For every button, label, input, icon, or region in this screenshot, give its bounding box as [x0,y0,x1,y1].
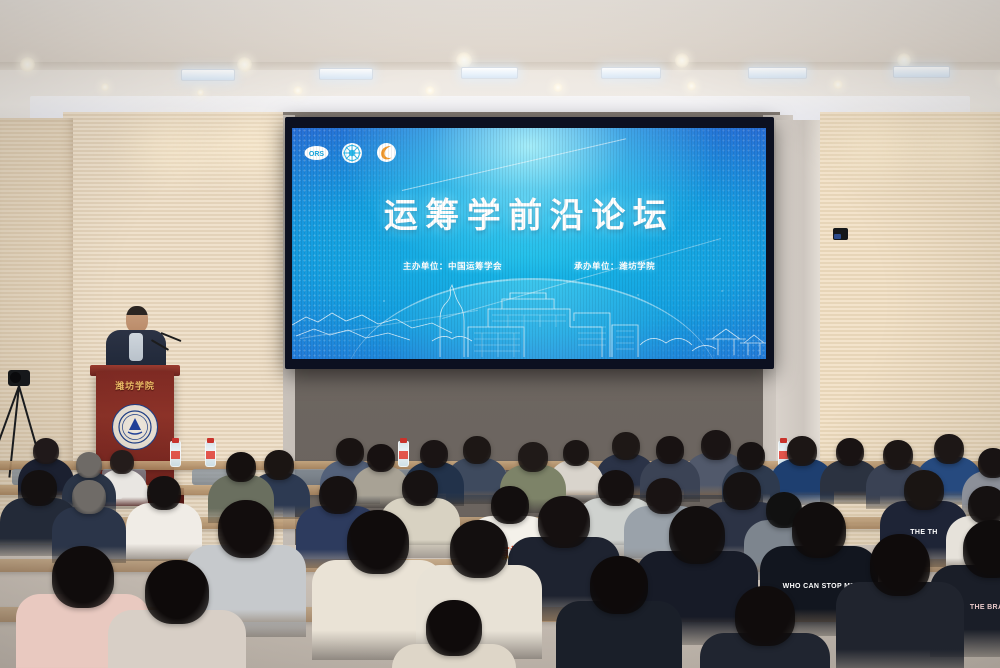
audience-person-head [590,556,648,614]
audience-person-head [978,448,1000,478]
audience-person-head [787,436,817,466]
audience-person-head [735,586,795,646]
bottle-label [171,451,180,459]
university-emblem-icon [112,404,158,450]
audience-person-head [612,432,640,460]
audience-person-head [420,440,448,468]
ceiling-panel-light [181,69,235,81]
screen-title: 运筹学前沿论坛 [292,188,766,237]
video-camera-icon [8,370,30,386]
downlight-icon [20,57,35,72]
svg-text:ORS: ORS [309,151,325,158]
audience-person-head [656,436,684,464]
camera-lens-icon [10,372,21,383]
ceiling [0,0,1000,70]
speaker-shirt [129,333,143,361]
wall-mounted-camera-icon [833,228,848,240]
audience-person-head [883,440,913,470]
audience-person [700,586,830,668]
podium-plaque-text: 潍坊学院 [96,379,174,392]
downlight-icon [833,80,842,89]
bottle-cap [172,438,179,443]
speaker-head [126,306,148,333]
audience-person-head [934,434,964,464]
audience-person [836,534,964,668]
downlight-icon [425,86,434,95]
downlight-icon [197,89,204,96]
screen-logo-row: ORS [304,140,399,165]
screen-subtitle-row: 主办单位：中国运筹学会 承办单位：潍坊学院 [292,260,766,272]
audience-person-head [147,476,181,510]
screen-subtitle-organizer: 承办单位：潍坊学院 [574,260,655,272]
ceiling-panel-light [893,66,950,78]
audience-person-head [870,534,930,596]
audience-person [556,556,682,668]
audience-person-head [463,436,491,464]
orsc-logo-icon: ORS [304,140,329,165]
screen-skyline-artwork [292,281,766,359]
audience-person-head [563,440,589,466]
ceiling-panel-light [601,67,660,79]
audience-person-head [145,560,209,624]
audience-person-head [367,444,395,472]
conference-hall-photo: ORS 运筹学前沿论坛 主办单位：中国运筹学 [0,0,1000,668]
audience-person-head [518,442,548,472]
audience-person-head [426,600,482,656]
screen-swoosh-line-1 [402,138,626,191]
audience-person-head [402,470,438,506]
downlight-icon [237,57,252,72]
audience-person [108,560,246,668]
wfu-swoosh-logo-icon [374,140,399,165]
ceiling-panel-light [461,67,518,79]
downlight-icon [687,81,696,90]
audience-person-head [72,480,106,514]
downlight-icon [293,86,302,95]
water-bottle [170,441,181,467]
society-seal-logo-icon [339,140,364,165]
audience-person-head [33,438,59,464]
audience-person-head [226,452,256,482]
audience-person-head [347,510,409,574]
audience-person-head [737,442,765,470]
audience-person-head [52,546,114,608]
downlight-icon [553,83,562,92]
ceiling-panel-light [748,67,807,79]
audience-person-head [836,438,864,466]
ceiling-panel-light [319,68,373,80]
led-screen[interactable]: ORS 运筹学前沿论坛 主办单位：中国运筹学 [292,128,766,359]
audience-person-head [218,500,274,558]
audience-person [392,600,516,668]
audience-person-head [76,452,102,478]
audience-person-head [963,520,1000,578]
screen-subtitle-host: 主办单位：中国运筹学会 [403,260,502,272]
bottle-cap [207,438,214,443]
audience-person-head [450,520,508,578]
downlight-icon [101,83,109,91]
audience-person-head [538,496,590,548]
audience-person-head [319,476,357,514]
downlight-icon [456,52,472,68]
downlight-icon [675,53,690,68]
audience-person-head [904,470,944,510]
audience-person-head [968,486,1000,524]
